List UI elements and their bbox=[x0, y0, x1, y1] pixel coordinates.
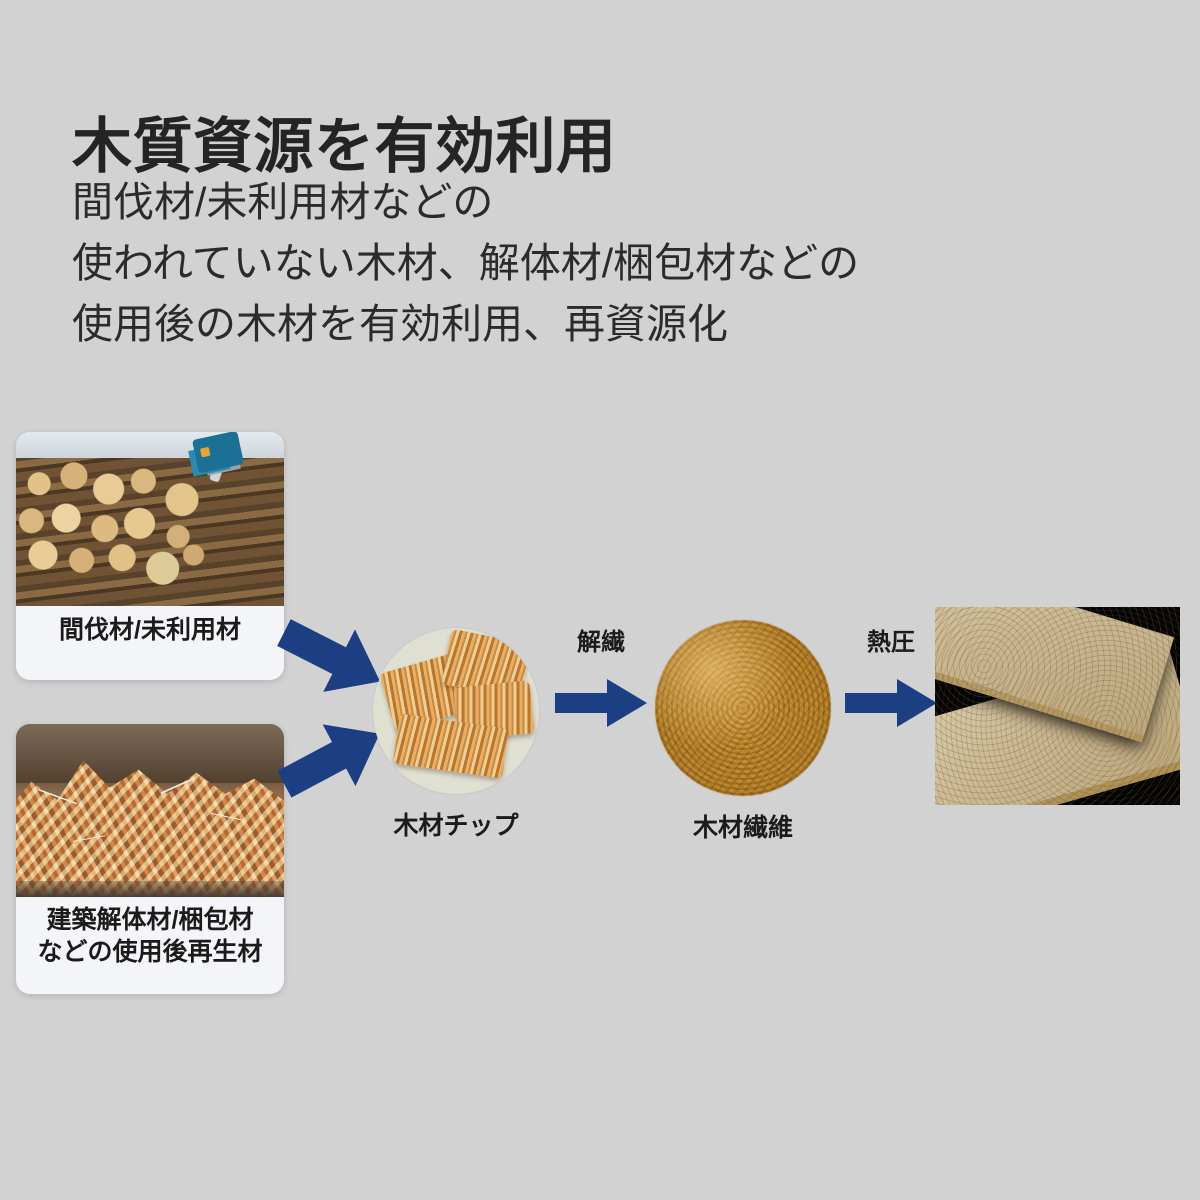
process-step-defibration: 解繊 bbox=[555, 622, 647, 727]
arrow-right-icon bbox=[555, 679, 647, 727]
demolition-scrap-photo bbox=[16, 724, 284, 897]
process-step-defibration-label: 解繊 bbox=[555, 622, 647, 657]
source-caption-line-2: などの使用後再生材 bbox=[16, 936, 284, 968]
source-card-thinned-wood: 間伐材/未利用材 bbox=[16, 432, 284, 680]
source-card-thinned-wood-caption: 間伐材/未利用材 bbox=[16, 614, 284, 646]
source-caption-line-1: 間伐材/未利用材 bbox=[16, 614, 284, 646]
process-step-hot-press-label: 熱圧 bbox=[845, 622, 937, 657]
stacked-logs-photo bbox=[16, 432, 284, 606]
intro-line-3: 使用後の木材を有効利用、再資源化 bbox=[72, 294, 859, 355]
wood-chips-photo bbox=[373, 628, 539, 794]
mdf-board-photo bbox=[935, 607, 1180, 805]
intro-line-1: 間伐材/未利用材などの bbox=[72, 172, 859, 233]
stage-wood-fiber-label: 木材繊維 bbox=[655, 808, 831, 844]
source-caption-line-1: 建築解体材/梱包材 bbox=[16, 904, 284, 936]
arrow-right-icon bbox=[845, 679, 937, 727]
stage-wood-chip-label: 木材チップ bbox=[373, 806, 539, 842]
infographic-page: 木質資源を有効利用 間伐材/未利用材などの 使われていない木材、解体材/梱包材な… bbox=[0, 0, 1200, 1200]
source-card-demolition-wood-caption: 建築解体材/梱包材 などの使用後再生材 bbox=[16, 904, 284, 968]
intro-line-2: 使われていない木材、解体材/梱包材などの bbox=[72, 233, 859, 294]
intro-paragraph: 間伐材/未利用材などの 使われていない木材、解体材/梱包材などの 使用後の木材を… bbox=[72, 172, 859, 355]
source-card-demolition-wood: 建築解体材/梱包材 などの使用後再生材 bbox=[16, 724, 284, 994]
wood-fiber-photo bbox=[655, 620, 831, 796]
process-step-hot-press: 熱圧 bbox=[845, 622, 937, 727]
stage-wood-chip: 木材チップ bbox=[373, 628, 539, 842]
stage-wood-fiber: 木材繊維 bbox=[655, 620, 831, 844]
